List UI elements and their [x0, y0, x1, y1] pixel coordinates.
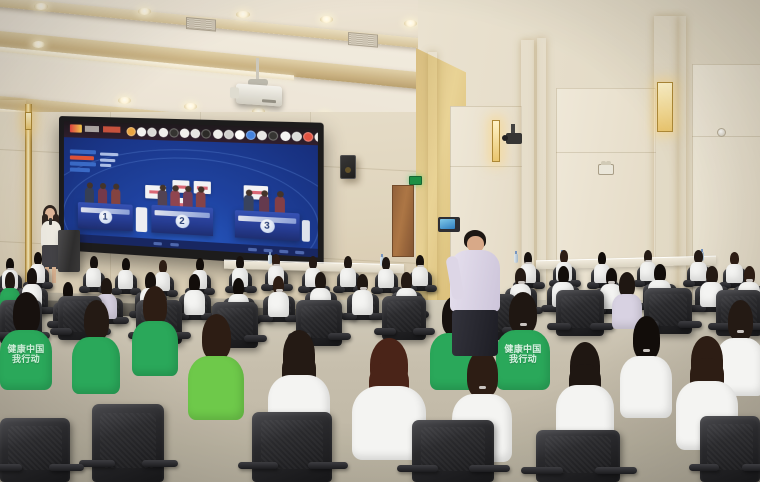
audience-member [378, 257, 394, 287]
downlight [404, 20, 417, 27]
audience-chair[interactable] [252, 412, 332, 482]
overlay-badge [70, 161, 96, 166]
green-shirt-slogan: 健康中国我行动 [0, 344, 52, 365]
audience-torso [118, 270, 133, 289]
contestant [98, 188, 107, 204]
smoke-detector [717, 128, 726, 137]
broadcast-overlay-text [100, 152, 118, 169]
chair-back [0, 418, 70, 482]
audience-chair[interactable] [0, 418, 70, 482]
contestant [196, 191, 206, 207]
participant-avatar[interactable] [169, 128, 179, 138]
contestant [158, 190, 167, 206]
contestant [85, 187, 94, 203]
audience-torso [132, 321, 178, 376]
audience-member [184, 274, 205, 314]
air-vent [186, 17, 216, 32]
podium-team-1: 1 [78, 202, 133, 231]
chair-armrest [547, 323, 571, 330]
chair-armrest [79, 460, 115, 467]
wall-speaker [340, 155, 356, 179]
audience-member: 健康中国我行动 [0, 292, 52, 388]
chair-armrest [742, 464, 760, 471]
contestant [111, 188, 120, 204]
chair-armrest [308, 462, 348, 469]
participant-avatar[interactable] [224, 130, 234, 140]
audience-member [118, 258, 133, 288]
audience-torso [72, 337, 120, 394]
wall-seam [450, 166, 522, 167]
wall-sconce [657, 82, 673, 132]
audience-member [268, 276, 289, 316]
chair-armrest [50, 328, 72, 335]
videographer-trousers [452, 310, 498, 356]
broadcast-logo [70, 124, 82, 132]
hair-tie [737, 330, 744, 333]
hair-tie [479, 386, 486, 389]
participant-avatar[interactable] [280, 131, 290, 141]
audience-torso [378, 269, 394, 288]
podium-number: 3 [260, 219, 275, 234]
wall-sconce [492, 120, 500, 162]
participant-avatar[interactable] [315, 132, 318, 142]
wall-seam [556, 152, 656, 153]
broadcast-stage: 1 2 3 [64, 137, 318, 249]
participant-avatar[interactable] [235, 130, 245, 140]
downlight [184, 103, 197, 110]
lectern [58, 230, 80, 272]
contestant [259, 195, 269, 211]
chair-armrest [469, 465, 510, 472]
podium-number: 2 [175, 214, 189, 228]
podium-team-3: 3 [235, 210, 300, 241]
chair-armrest [689, 464, 719, 471]
display-screen-content: 1 2 3 [64, 121, 318, 257]
exit-sign [409, 176, 422, 185]
audience-head [202, 314, 231, 360]
chair-armrest [79, 286, 90, 293]
downlight [34, 3, 48, 10]
chair-back [536, 430, 620, 482]
wood-door [392, 185, 414, 257]
downlight [138, 8, 151, 15]
downlight [236, 11, 250, 18]
stage-prop [136, 207, 147, 232]
audience-member [352, 274, 373, 314]
audience-member [620, 316, 672, 416]
microphone [49, 218, 52, 225]
audience-member [188, 314, 244, 418]
participant-avatar[interactable] [137, 127, 146, 137]
chair-armrest [683, 280, 695, 287]
overlay-badge [70, 155, 94, 160]
chair-armrest [678, 321, 702, 328]
chair-armrest [328, 333, 351, 340]
ceiling-projector [236, 83, 282, 106]
audience-member [72, 300, 120, 392]
air-vent [348, 32, 378, 48]
audience-torso [620, 356, 672, 418]
audience-member [132, 286, 178, 374]
audience-chair[interactable] [536, 430, 620, 482]
chair-armrest [590, 323, 614, 330]
participant-avatar[interactable] [213, 129, 223, 139]
downlight [118, 97, 131, 104]
audience-torso [188, 356, 244, 420]
chair-armrest [397, 465, 438, 472]
broadcast-header-text [85, 126, 99, 132]
downlight [320, 16, 333, 23]
wall-sconce [25, 112, 32, 130]
chair-armrest [374, 328, 396, 335]
stage-prop [302, 220, 310, 242]
hair-tie [520, 323, 527, 326]
conference-room-photo: 1 2 3 [0, 0, 760, 482]
slogan-line-1: 健康中国 [0, 344, 52, 354]
presenter-leg [52, 267, 56, 283]
overlay-badge [70, 149, 96, 154]
participant-avatar[interactable] [180, 128, 190, 138]
audience-chair[interactable] [92, 404, 164, 482]
overlay-badge [70, 167, 90, 172]
contestant [244, 195, 254, 211]
participant-avatar[interactable] [303, 132, 313, 142]
contestant [275, 196, 285, 213]
audience-head [13, 292, 40, 334]
audience-torso [268, 292, 289, 317]
hair-tie [643, 349, 650, 352]
audience-torso [184, 290, 205, 315]
podium-number: 1 [98, 210, 111, 224]
slogan-line-2: 我行动 [0, 354, 52, 364]
contestant [183, 191, 193, 207]
broadcast-overlay-badges [70, 149, 96, 174]
participant-avatar[interactable] [202, 129, 212, 139]
chair-back [92, 404, 164, 482]
audience-chair[interactable] [556, 290, 604, 336]
podium-team-2: 2 [151, 205, 213, 236]
chair-armrest [521, 467, 563, 474]
chair-armrest [244, 335, 267, 342]
chair-armrest [0, 464, 22, 471]
participant-avatar[interactable] [148, 128, 157, 138]
participant-avatar[interactable] [127, 127, 136, 136]
contestant [170, 190, 180, 206]
chair-armrest [142, 460, 178, 467]
participant-avatar[interactable] [269, 131, 279, 141]
participant-avatar[interactable] [291, 132, 301, 142]
participant-avatar[interactable] [191, 129, 201, 139]
broadcast-header-badge [103, 126, 120, 133]
wall-seam [692, 136, 760, 137]
participant-avatar[interactable] [257, 131, 267, 141]
standing-videographer [447, 228, 503, 356]
emergency-light [598, 164, 614, 175]
surveillance-camera [506, 133, 522, 144]
chair-armrest [595, 467, 637, 474]
chair-back [412, 420, 494, 482]
chair-armrest [238, 462, 278, 469]
audience-head [143, 286, 167, 325]
audience-chair[interactable] [700, 416, 760, 482]
audience-chair[interactable] [382, 296, 426, 340]
audience-torso [352, 290, 373, 315]
participant-avatar[interactable] [158, 128, 167, 138]
participant-avatar[interactable] [246, 130, 256, 140]
audience-chair[interactable] [412, 420, 494, 482]
downlight [32, 41, 45, 48]
water-bottle [514, 254, 518, 263]
camcorder [438, 217, 460, 232]
camcorder-screen [440, 219, 455, 229]
chair-armrest [425, 285, 437, 292]
audience-head [84, 300, 109, 340]
chair-back [252, 412, 332, 482]
chair-armrest [49, 464, 84, 471]
chair-back [700, 416, 760, 482]
led-display-screen[interactable]: 1 2 3 [59, 116, 324, 268]
